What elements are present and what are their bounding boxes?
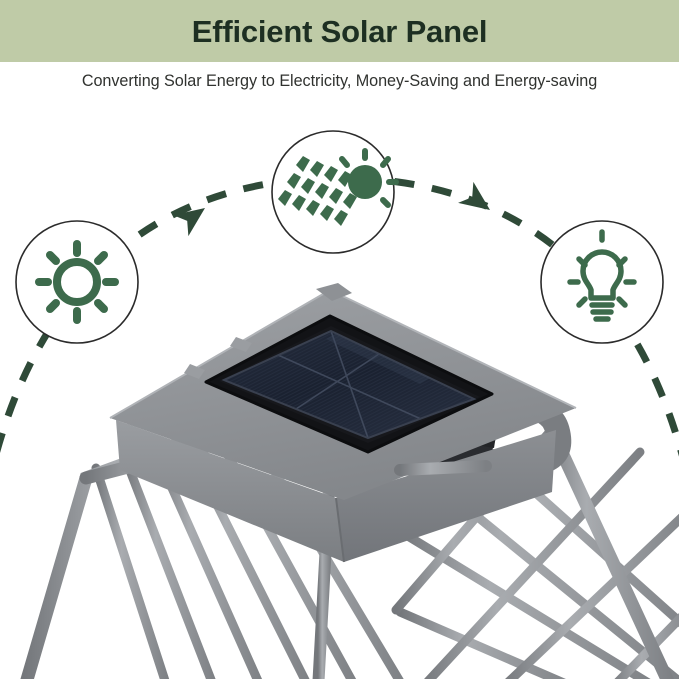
infographic-canvas: Efficient Solar Panel Converting Solar E… [0, 0, 679, 679]
flow-badges [0, 0, 679, 679]
badge-solar-panel[interactable] [272, 131, 396, 253]
badge-electricity[interactable] [541, 221, 663, 343]
badge-solar-energy[interactable] [16, 221, 138, 343]
badge-circle [16, 221, 138, 343]
